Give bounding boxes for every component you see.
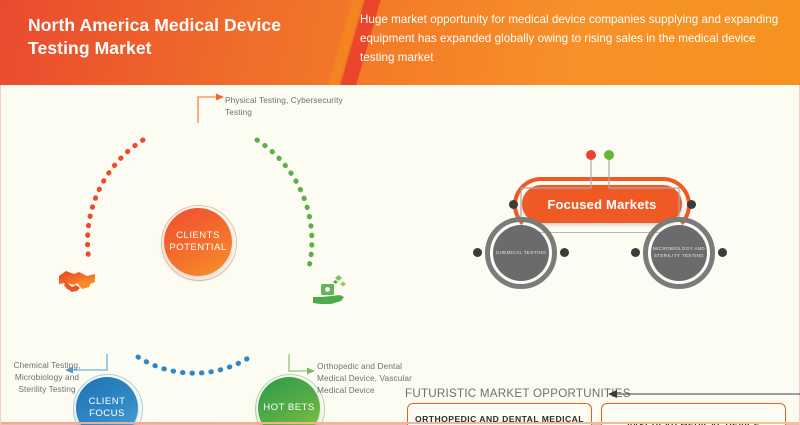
market-circle-chemical-testing[interactable]: CHEMICAL TESTING xyxy=(485,217,557,289)
market-circle-label: CHEMICAL TESTING xyxy=(496,250,546,257)
green-connector-dot xyxy=(604,150,614,160)
header-banner: North America Medical Device Testing Mar… xyxy=(0,0,800,85)
market-circle-label: MICROBIOLOGY AND STERILITY TESTING xyxy=(651,246,707,259)
focused-markets-connectors xyxy=(401,85,800,425)
red-connector-dot xyxy=(586,150,596,160)
leader-clients-arrow xyxy=(216,94,224,101)
infographic-page: North America Medical Device Testing Mar… xyxy=(0,0,800,425)
opportunity-label: ORTHOPEDIC AND DENTAL MEDICAL DEVICE xyxy=(408,413,591,425)
callout-clients-potential: Physical Testing, Cybersecurity Testing xyxy=(225,95,355,119)
market-circle-left-knob xyxy=(631,248,640,257)
arc-orange-dotted xyxy=(88,140,143,260)
market-circle-microbiology-sterility[interactable]: MICROBIOLOGY AND STERILITY TESTING xyxy=(643,217,715,289)
cycle-node-label: CLIENTS POTENTIAL xyxy=(164,230,232,253)
page-title: North America Medical Device Testing Mar… xyxy=(28,14,328,61)
leader-clients xyxy=(198,97,216,123)
cycle-node-clients-potential[interactable]: CLIENTS POTENTIAL xyxy=(164,208,232,276)
market-circle-label-wrap: CHEMICAL TESTING xyxy=(493,225,549,281)
opportunity-card-vascular[interactable]: VASCULAR MEDICAL DEVICE xyxy=(601,403,786,425)
market-circle-label-wrap: MICROBIOLOGY AND STERILITY TESTING xyxy=(651,225,707,281)
futuristic-opportunities-arrow xyxy=(401,381,800,403)
opportunity-card-orthopedic-dental[interactable]: ORTHOPEDIC AND DENTAL MEDICAL DEVICE xyxy=(407,403,592,425)
market-circle-left-knob xyxy=(473,248,482,257)
leader-hot xyxy=(289,354,307,371)
cycle-node-label: CLIENT FOCUS xyxy=(76,396,138,419)
market-circle-right-knob xyxy=(718,248,727,257)
cycle-node-label: HOT BETS xyxy=(263,402,314,414)
leader-hot-arrow xyxy=(307,368,315,375)
arc-green-dotted xyxy=(257,140,312,267)
callout-client-focus: Chemical Testing, Microbiology and Steri… xyxy=(5,360,89,395)
arc-blue-dotted xyxy=(138,357,250,373)
money-hand-icon xyxy=(311,273,349,309)
opportunity-label: VASCULAR MEDICAL DEVICE xyxy=(627,419,760,425)
diagram-canvas: CLIENTS POTENTIAL CLIENT FOCUS HOT BETS … xyxy=(0,85,800,425)
header-subtitle: Huge market opportunity for medical devi… xyxy=(360,11,780,67)
handshake-icon xyxy=(57,263,97,299)
market-circle-right-knob xyxy=(560,248,569,257)
